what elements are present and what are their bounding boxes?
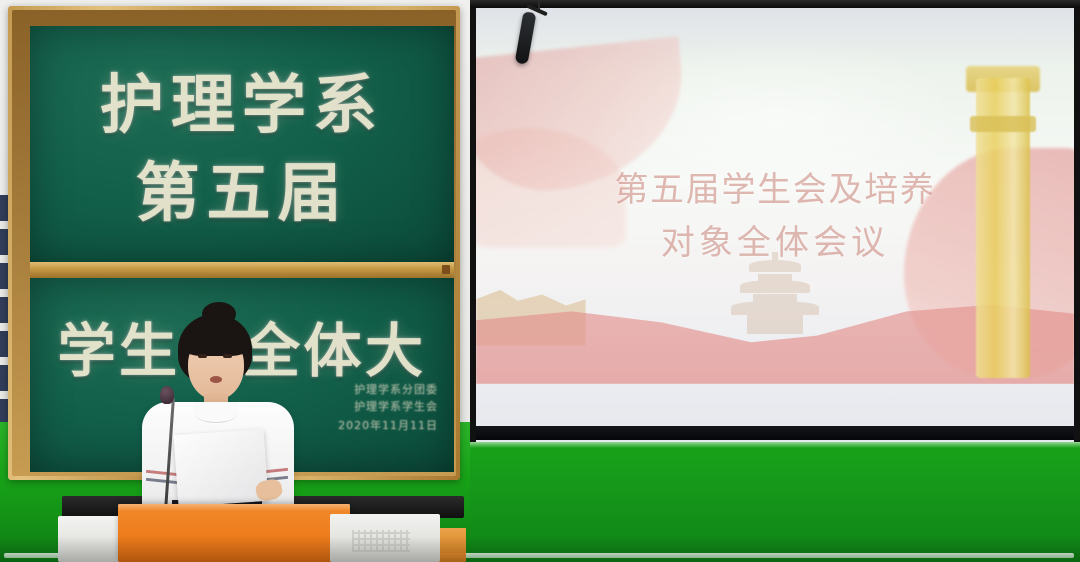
collar [194, 402, 238, 423]
screen-bottom-bar [476, 426, 1074, 440]
slide-title-line1: 第五届学生会及培养 [614, 170, 935, 210]
speech-papers [174, 429, 269, 507]
chalk-line-1: 护理学系 [30, 54, 454, 146]
projection-screen: 第五届学生会及培养 对象全体会议 [470, 0, 1080, 470]
eye-right [223, 354, 232, 358]
eye-left [198, 354, 207, 358]
chalk-signature-1: 护理学系分团委 [354, 382, 438, 398]
chalk-signature-date: 2020年11月11日 [338, 418, 438, 434]
desk-microphone-icon [160, 386, 174, 404]
mouth [210, 376, 222, 383]
classroom-meeting-photo: 第五届学生会及培养 对象全体会议 护理学系 第五届 学生会全体大会 护理学系分团… [0, 0, 1080, 562]
chalk-signature-2: 护理学系学生会 [354, 399, 438, 415]
presenter [120, 314, 310, 514]
screen-surface: 第五届学生会及培养 对象全体会议 [476, 8, 1074, 450]
slide-title-line2: 对象全体会议 [476, 217, 1074, 270]
bottom-shadow [0, 536, 1080, 562]
hair-fringe [182, 328, 250, 356]
golden-pillar-band-icon [970, 116, 1036, 132]
screen-top-bar [470, 0, 1080, 8]
chalk-rail [30, 262, 454, 278]
slide-background: 第五届学生会及培养 对象全体会议 [476, 8, 1074, 450]
slide-title: 第五届学生会及培养 对象全体会议 [476, 164, 1074, 269]
blackboard-pane-upper: 护理学系 第五届 [30, 26, 454, 264]
chalk-line-2: 第五届 [30, 142, 454, 234]
